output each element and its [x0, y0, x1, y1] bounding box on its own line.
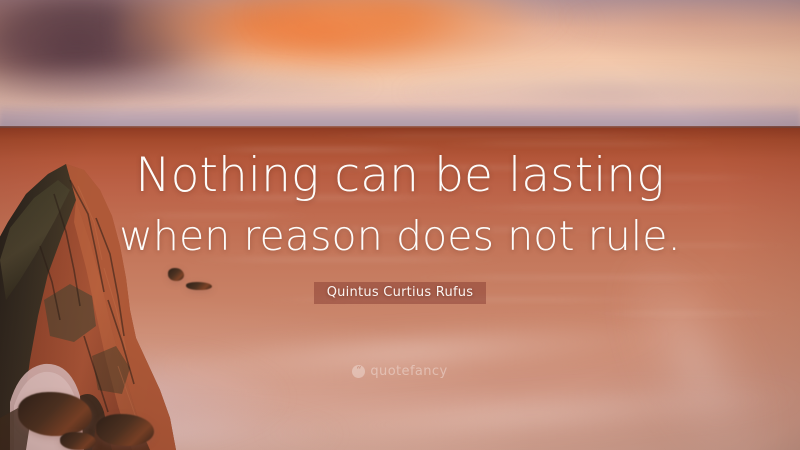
orange-cloud-band-secondary: [250, 0, 580, 60]
quotefancy-watermark[interactable]: “ quotefancy: [0, 364, 800, 379]
author-name: Quintus Curtius Rufus: [314, 282, 487, 304]
quote-line-1: Nothing can be lasting: [0, 148, 800, 204]
horizon-haze: [0, 104, 800, 128]
quote-mark-icon: “: [352, 365, 365, 378]
watermark-brand-label: quotefancy: [370, 364, 447, 379]
quote-wallpaper: Nothing can be lasting when reason does …: [0, 0, 800, 450]
quote-line-2: when reason does not rule.: [0, 211, 800, 261]
author-attribution: Quintus Curtius Rufus: [0, 282, 800, 304]
horizon-line: [0, 126, 800, 128]
cloud-wisp-right: [560, 2, 800, 36]
low-cloud-bank-left: [0, 62, 400, 106]
